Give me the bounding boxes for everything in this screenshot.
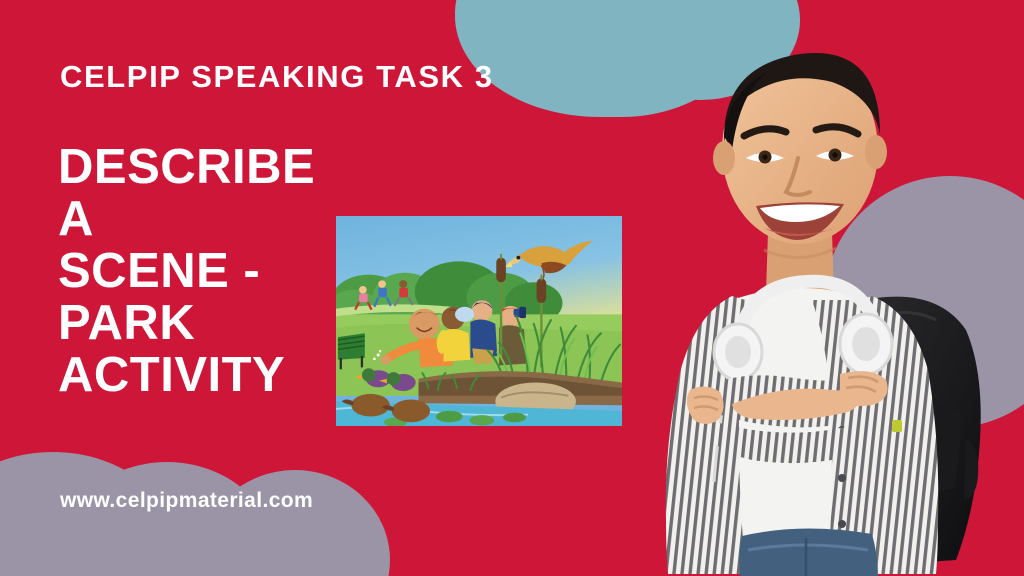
student-photo-svg	[636, 0, 1024, 576]
jeans	[739, 528, 878, 576]
banner-canvas: CELPIP SPEAKING TASK 3 DESCRIBE A SCENE …	[0, 0, 1024, 576]
page-title: DESCRIBE A SCENE - PARK ACTIVITY	[58, 142, 358, 402]
shirt-logo-tag	[892, 420, 902, 432]
gray-blob-bottom-left-base	[0, 512, 348, 576]
eyebrow-title: CELPIP SPEAKING TASK 3	[60, 60, 620, 94]
website-url[interactable]: www.celpipmaterial.com	[60, 489, 313, 513]
headline-line-4: ACTIVITY	[58, 350, 358, 402]
headline-line-3: PARK	[58, 298, 358, 350]
park-scene-illustration	[330, 210, 628, 432]
head	[713, 53, 887, 258]
headline-line-2: SCENE -	[58, 246, 358, 298]
student-photo	[636, 0, 1024, 576]
park-scene-svg	[336, 216, 622, 426]
headline-line-1: DESCRIBE A	[58, 142, 358, 246]
